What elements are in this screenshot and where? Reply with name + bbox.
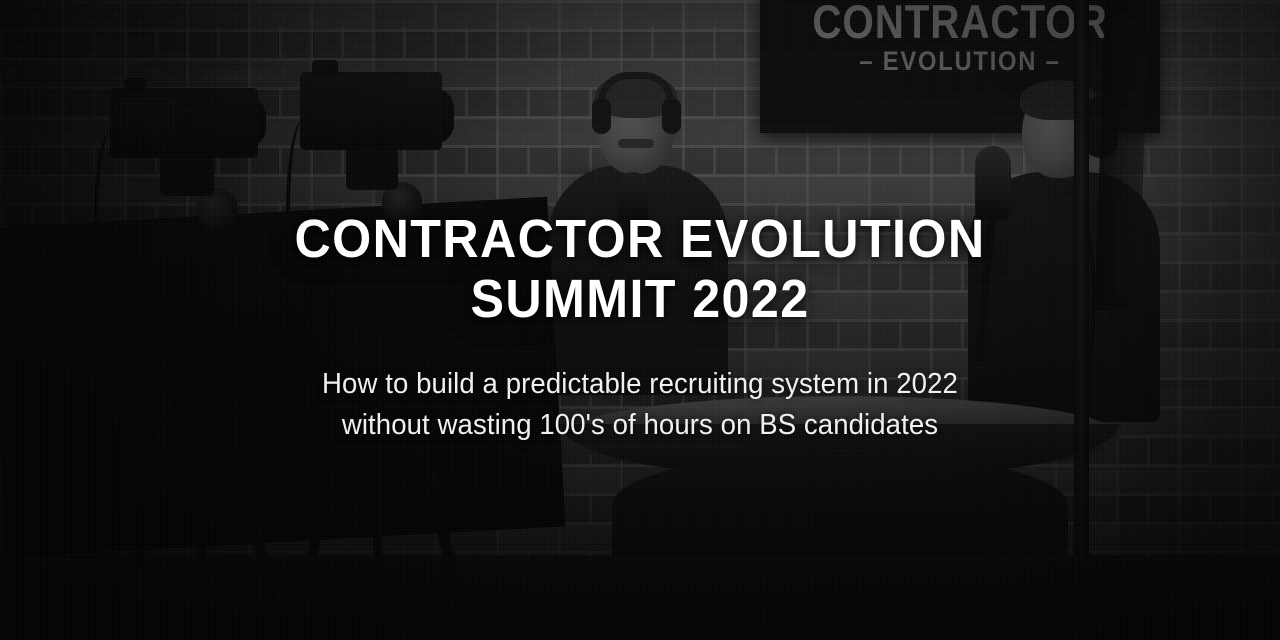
- studio-photo: CONTRACTOR – EVOLUTION –: [0, 0, 1280, 640]
- photo-grain: [0, 0, 1280, 640]
- hero-banner: CONTRACTOR – EVOLUTION –: [0, 0, 1280, 640]
